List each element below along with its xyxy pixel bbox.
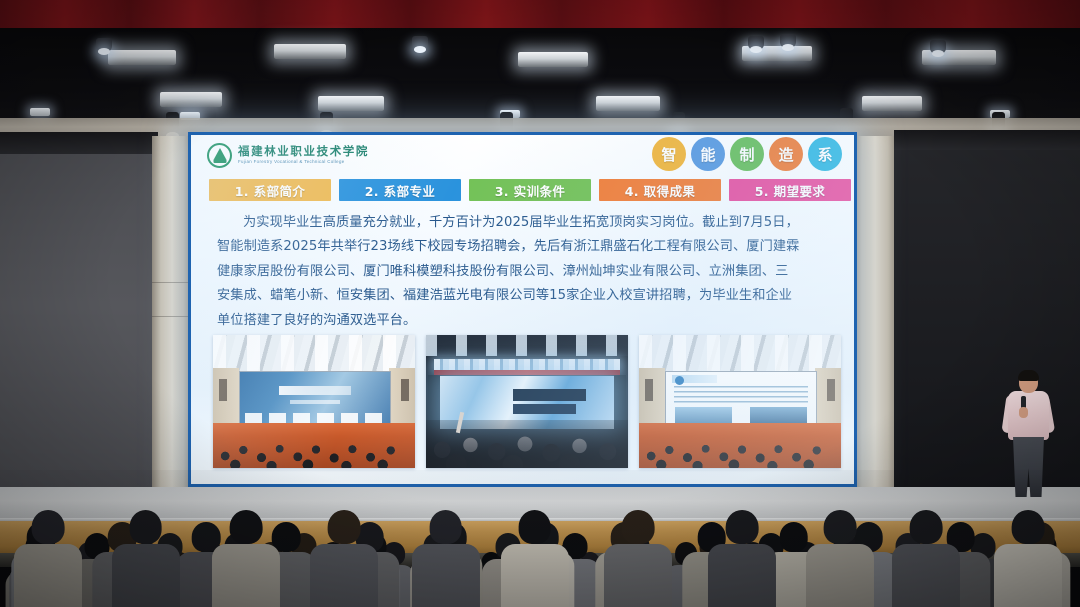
audience-torso xyxy=(112,544,180,607)
department-circle-char: 能 xyxy=(700,144,715,165)
audience-head xyxy=(780,522,809,552)
column-seam xyxy=(152,282,192,283)
wall-panel-left xyxy=(0,154,158,490)
body-line: 单位搭建了良好的沟通双选平台。 xyxy=(217,309,833,333)
audience-member xyxy=(806,510,874,607)
department-circle-char: 智 xyxy=(661,144,676,165)
body-line: 为实现毕业生高质量充分就业，千方百计为2025届毕业生拓宽顶岗实习岗位。截止到7… xyxy=(217,211,833,235)
photo-projection-screen xyxy=(239,371,390,429)
pine-tree-emblem-icon xyxy=(207,143,232,168)
audience-torso xyxy=(806,544,874,607)
audience-torso xyxy=(412,544,480,607)
photo-speaker-left xyxy=(645,379,653,402)
column-seam xyxy=(152,316,192,317)
audience-head xyxy=(1012,510,1045,544)
ceiling-light xyxy=(862,96,922,111)
department-circle: 系 xyxy=(808,137,842,171)
audience-torso xyxy=(212,544,280,607)
audience-head xyxy=(725,510,758,544)
hall-scene xyxy=(213,335,415,468)
department-circle: 智 xyxy=(652,137,686,171)
audience-head xyxy=(429,510,462,544)
photo-screen-title xyxy=(279,386,351,395)
photo-slide-image-right xyxy=(750,407,807,424)
body-line: 智能制造系2025年共举行23场线下校园专场招聘会，先后有浙江鼎盛石化工程有限公… xyxy=(217,235,833,259)
audience-head xyxy=(129,510,162,544)
photo-speaker-right xyxy=(401,379,409,402)
presenter-hair xyxy=(1018,370,1039,381)
audience-member xyxy=(604,510,672,607)
dark-hall-scene xyxy=(426,335,628,468)
audience-head xyxy=(230,510,263,544)
ceiling-light xyxy=(518,52,588,67)
audience-head xyxy=(622,510,655,544)
column-right xyxy=(852,136,898,492)
ceiling-light xyxy=(318,96,384,111)
photo-projection-screen xyxy=(665,371,816,429)
department-circle: 能 xyxy=(691,137,725,171)
college-logo: 福建林业职业技术学院 Fujian Forestry Vocational & … xyxy=(207,143,369,168)
audience-torso xyxy=(708,544,776,607)
audience-head xyxy=(823,510,856,544)
slide-tab-bar: 1. 系部简介 2. 系部专业 3. 实训条件 4. 取得成果 5. 期望要求 xyxy=(209,179,851,201)
department-circle-group: 智 能 制 造 系 xyxy=(652,137,842,171)
photo-light-truss xyxy=(434,359,620,370)
department-circle: 造 xyxy=(769,137,803,171)
photo-bright-hall-white-slide xyxy=(639,335,841,468)
stage-spotlight xyxy=(96,38,112,52)
projected-slide: 福建林业职业技术学院 Fujian Forestry Vocational & … xyxy=(188,132,857,487)
tab-expectations[interactable]: 5. 期望要求 xyxy=(729,179,851,201)
stage-spotlight xyxy=(930,40,946,54)
tab-achievements[interactable]: 4. 取得成果 xyxy=(599,179,721,201)
photo-ceiling-lights xyxy=(639,335,841,371)
department-circle-char: 制 xyxy=(739,144,754,165)
tab-department-intro[interactable]: 1. 系部简介 xyxy=(209,179,331,201)
slide-body-text: 为实现毕业生高质量充分就业，千方百计为2025届毕业生拓宽顶岗实习岗位。截止到7… xyxy=(217,211,833,333)
audience-member xyxy=(994,510,1062,607)
column-left xyxy=(152,136,192,492)
body-line: 安集成、蜡笔小新、恒安集团、福建浩蓝光电有限公司等15家企业入校宣讲招聘，为毕业… xyxy=(217,284,833,308)
ceiling-light xyxy=(160,92,222,107)
audience-member xyxy=(112,510,180,607)
audience-torso xyxy=(604,544,672,607)
slide-header: 福建林业职业技术学院 Fujian Forestry Vocational & … xyxy=(191,135,854,175)
slide-photo-row xyxy=(213,335,841,468)
tab-training-facilities[interactable]: 3. 实训条件 xyxy=(469,179,591,201)
audience-head xyxy=(518,510,551,544)
tab-department-majors[interactable]: 2. 系部专业 xyxy=(339,179,461,201)
audience-head xyxy=(31,510,64,544)
presenter-shirt xyxy=(1008,391,1049,440)
body-line: 健康家居股份有限公司、厦门唯科模塑科技股份有限公司、漳州灿坤实业有限公司、立洲集… xyxy=(217,260,833,284)
ceiling-light xyxy=(596,96,660,111)
audience-torso xyxy=(310,544,378,607)
photo-attendees xyxy=(639,428,841,468)
photo-slide-image-left xyxy=(675,407,732,424)
audience-torso xyxy=(501,544,569,607)
audience-torso xyxy=(994,544,1062,607)
audience-row xyxy=(0,574,1080,607)
audience-member xyxy=(708,510,776,607)
auditorium-scene: 福建林业职业技术学院 Fujian Forestry Vocational & … xyxy=(0,0,1080,607)
department-circle-char: 造 xyxy=(778,144,793,165)
stage-spotlight xyxy=(780,34,796,48)
hall-scene xyxy=(639,335,841,468)
wall-panel-top-right xyxy=(894,130,1080,152)
ceiling-light xyxy=(274,44,346,59)
audience-member xyxy=(212,510,280,607)
audience xyxy=(0,470,1080,607)
photo-stage-band xyxy=(434,370,620,375)
college-name-cn: 福建林业职业技术学院 xyxy=(238,146,369,158)
audience-member xyxy=(310,510,378,607)
college-name-en: Fujian Forestry Vocational & Technical C… xyxy=(238,160,369,164)
photo-bright-hall-blue-screen xyxy=(213,335,415,468)
photo-speaker-left xyxy=(219,379,227,402)
wall-panel-top-left xyxy=(0,132,158,156)
audience-member xyxy=(412,510,480,607)
ceiling-lamp xyxy=(30,108,50,116)
stage-spotlight xyxy=(748,36,764,50)
presenter-hand xyxy=(1019,407,1028,418)
audience-head xyxy=(910,510,943,544)
photo-slide-logo-icon xyxy=(675,376,684,385)
stage-curtain xyxy=(0,0,1080,30)
photo-ceiling-lights xyxy=(213,335,415,371)
photo-screen-subtitle xyxy=(290,400,341,404)
photo-dark-hall-led-screen xyxy=(426,335,628,468)
audience-torso xyxy=(892,544,960,607)
audience-torso xyxy=(14,544,82,607)
department-circle: 制 xyxy=(730,137,764,171)
photo-slide-text-lines xyxy=(674,386,809,403)
photo-led-subtitle xyxy=(513,404,576,414)
photo-led-title xyxy=(513,389,586,401)
photo-ceiling-lights xyxy=(426,335,628,356)
audience-member xyxy=(892,510,960,607)
department-circle-char: 系 xyxy=(817,144,832,165)
audience-member xyxy=(501,510,569,607)
ceiling-light xyxy=(108,50,176,65)
audience-head xyxy=(328,510,361,544)
stage-spotlight xyxy=(412,36,428,50)
photo-speaker-right xyxy=(827,379,835,402)
audience-member xyxy=(14,510,82,607)
photo-attendees xyxy=(213,428,415,468)
